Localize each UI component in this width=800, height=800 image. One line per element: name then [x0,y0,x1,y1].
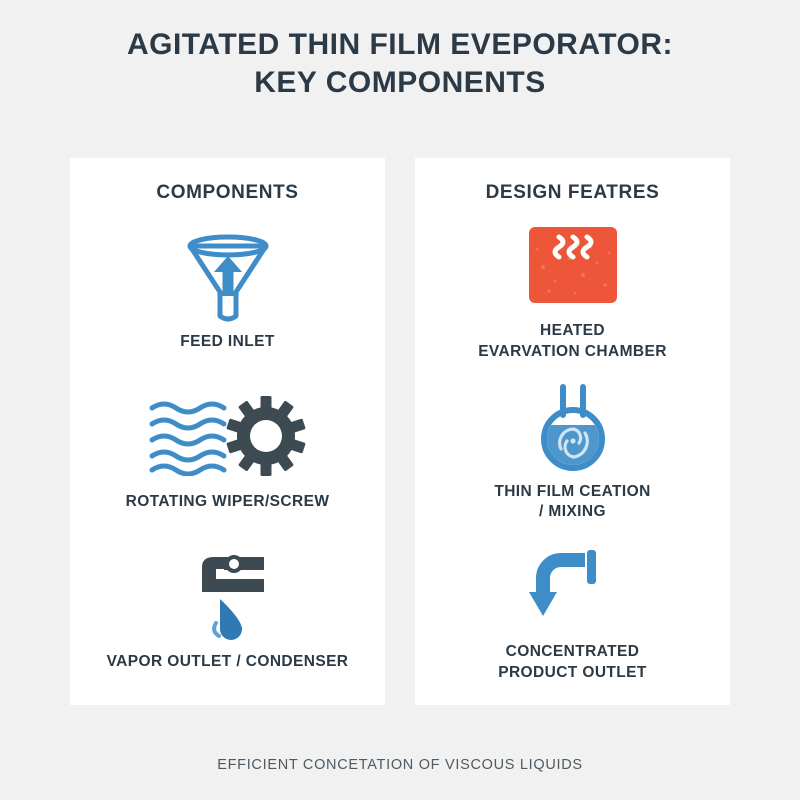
list-item-feed-inlet[interactable]: FEED INLET [70,228,385,353]
list-item-label: THIN FILM CEATION / MIXING [494,482,650,524]
wavy-lines-gear-icon [148,388,308,484]
flask-swirl-icon [525,378,621,474]
funnel-up-arrow-icon [180,228,276,324]
column-header-design-features: DESIGN FEATRES [486,182,660,204]
list-item-label: CONCENTRATED PRODUCT OUTLET [498,642,647,684]
list-item-thin-film-creation-mixing[interactable]: THIN FILM CEATION / MIXING [415,378,730,524]
elbow-down-arrow-icon [525,538,621,634]
list-item-concentrated-product-outlet[interactable]: CONCENTRATED PRODUCT OUTLET [415,538,730,684]
heated-panel-icon [525,217,621,313]
page-title-line-1: AGITATED THIN FILM EVEPORATOR: [0,26,800,64]
list-item-vapor-outlet-condenser[interactable]: VAPOR OUTLET / CONDENSER [70,548,385,673]
list-item-label: FEED INLET [180,332,274,353]
design-feature-list: HEATED EVARVATION CHAMBER [415,210,730,705]
list-item-heated-evaporation-chamber[interactable]: HEATED EVARVATION CHAMBER [415,217,730,363]
page-title: AGITATED THIN FILM EVEPORATOR: KEY COMPO… [0,26,800,103]
column-header-components: COMPONENTS [156,182,298,204]
column-card-design-features: DESIGN FEATRES [415,158,730,705]
columns-container: COMPONENTS FEED INLET [70,158,730,705]
footer-tagline: EFFICIENT CONCETATION OF VISCOUS LIQUIDS [0,757,800,773]
component-list: FEED INLET [70,210,385,705]
faucet-water-drop-icon [180,548,276,644]
list-item-rotating-wiper-screw[interactable]: ROTATING WIPER/SCREW [70,388,385,513]
column-card-components: COMPONENTS FEED INLET [70,158,385,705]
list-item-label: VAPOR OUTLET / CONDENSER [107,652,349,673]
list-item-label: HEATED EVARVATION CHAMBER [478,321,667,363]
page-title-line-2: KEY COMPONENTS [0,64,800,102]
list-item-label: ROTATING WIPER/SCREW [126,492,330,513]
